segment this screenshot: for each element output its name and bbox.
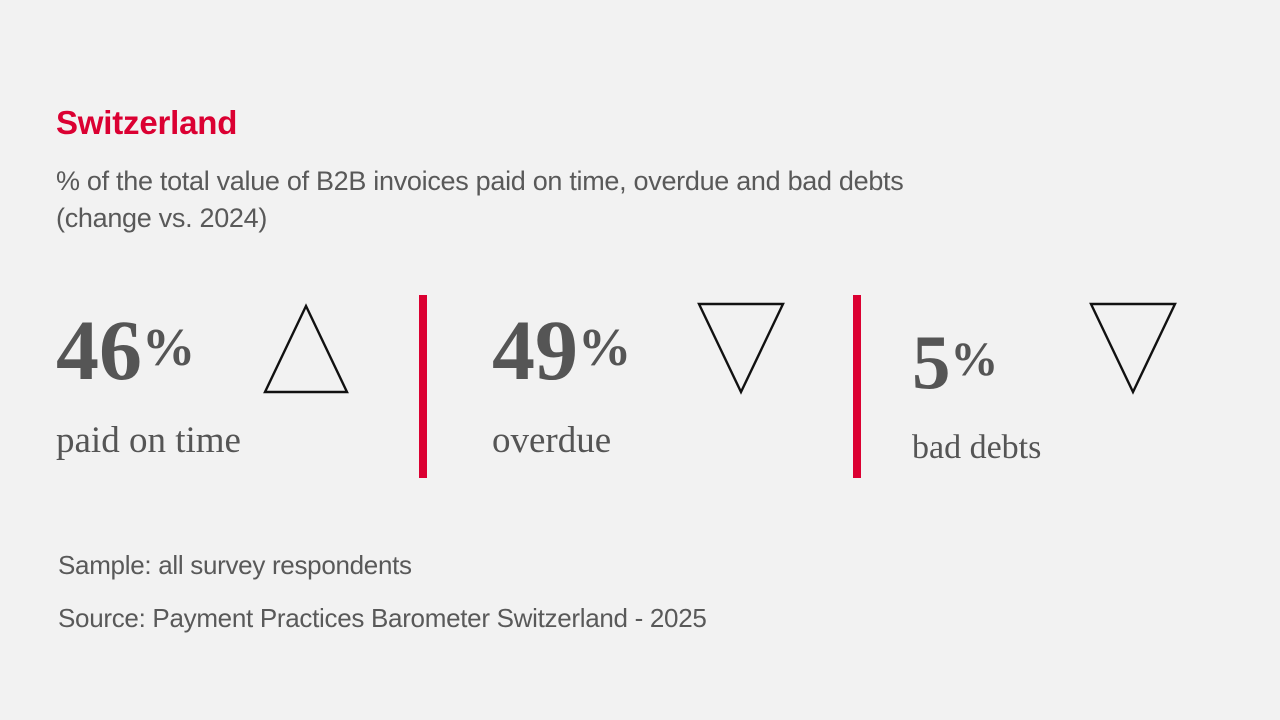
source-note: Source: Payment Practices Barometer Swit…: [58, 592, 707, 645]
stat-value-row: 5%: [912, 280, 1222, 415]
page-subtitle: % of the total value of B2B invoices pai…: [56, 163, 1216, 237]
stats-row: 46% paid on time 49% overdue: [0, 280, 1280, 490]
percent-sign: %: [142, 317, 195, 377]
stat-number: 49: [492, 302, 578, 398]
percent-sign: %: [578, 317, 631, 377]
stat-value: 5%: [912, 324, 998, 401]
subtitle-line-1: % of the total value of B2B invoices pai…: [56, 163, 1216, 200]
stat-number: 46: [56, 302, 142, 398]
percent-sign: %: [951, 333, 999, 386]
stat-block-overdue: 49% overdue: [492, 280, 832, 490]
stat-value-row: 49%: [492, 280, 832, 415]
triangle-down-icon: [1088, 301, 1178, 395]
footer-notes: Sample: all survey respondents Source: P…: [58, 539, 707, 645]
stat-divider-2: [853, 295, 861, 478]
stat-value: 46%: [56, 307, 195, 393]
stat-label: paid on time: [56, 422, 241, 459]
stat-block-bad-debts: 5% bad debts: [912, 280, 1222, 490]
stat-value-row: 46%: [56, 280, 396, 415]
subtitle-line-2: (change vs. 2024): [56, 200, 1216, 237]
sample-note: Sample: all survey respondents: [58, 539, 707, 592]
stat-divider-1: [419, 295, 427, 478]
stat-block-paid-on-time: 46% paid on time: [56, 280, 396, 490]
stat-value: 49%: [492, 307, 631, 393]
stat-number: 5: [912, 319, 951, 405]
page-title: Switzerland: [56, 103, 237, 143]
stat-label: bad debts: [912, 431, 1041, 465]
stat-label: overdue: [492, 422, 611, 459]
triangle-down-icon: [696, 301, 786, 395]
infographic-canvas: Switzerland % of the total value of B2B …: [0, 0, 1280, 720]
triangle-up-icon: [262, 303, 350, 395]
